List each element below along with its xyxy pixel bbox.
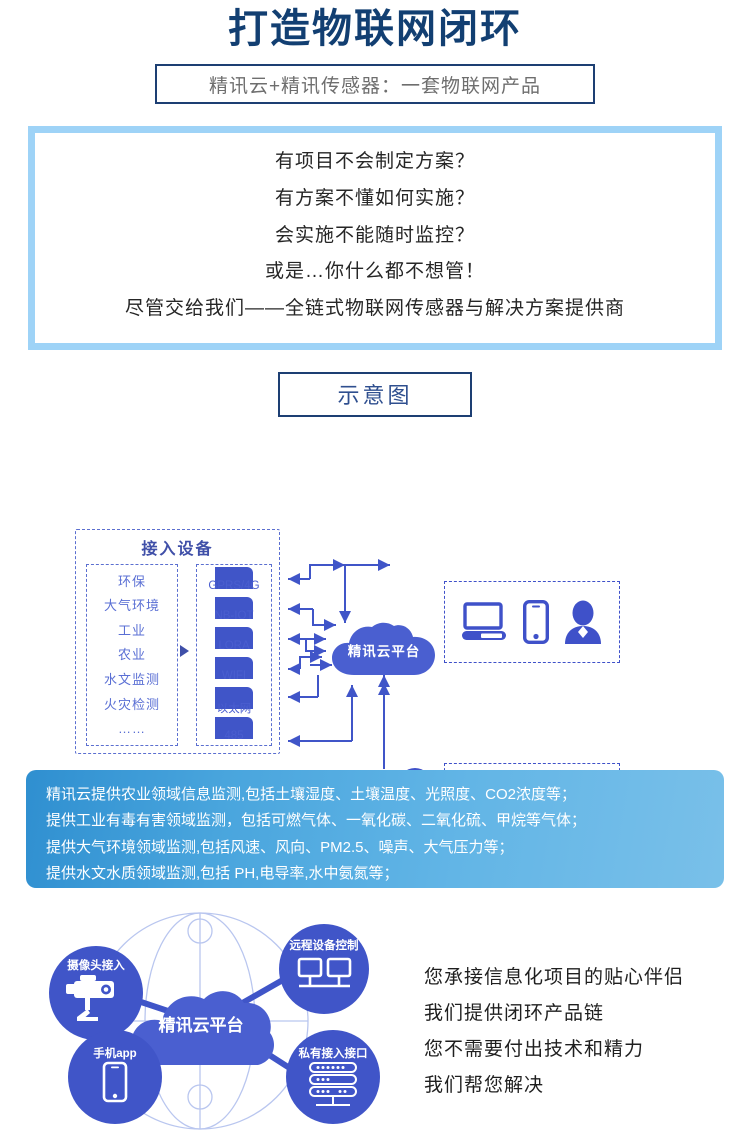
closing-line: 我们提供闭环产品链 bbox=[424, 998, 684, 1025]
subtitle-text: 精讯云+精讯传感器：一套物联网产品 bbox=[209, 71, 541, 98]
domain-item: 工业 bbox=[118, 624, 146, 637]
question-line: 有项目不会制定方案？ bbox=[45, 151, 705, 174]
hub-section: 精讯云平台 摄像头接入 远程设备控制 手机app bbox=[0, 900, 750, 1141]
protocol-label: GPRS/4G bbox=[197, 580, 271, 592]
client-devices-box bbox=[444, 581, 620, 663]
question-line: 尽管交给我们——全链式物联网传感器与解决方案提供商 bbox=[45, 298, 705, 321]
domain-item: 大气环境 bbox=[104, 599, 160, 612]
question-line: 有方案不懂如何实施？ bbox=[45, 188, 705, 211]
domain-item: 农业 bbox=[118, 648, 146, 661]
user-icon bbox=[563, 600, 603, 644]
question-line: 会实施不能随时监控？ bbox=[45, 225, 705, 248]
access-devices-title: 接入设备 bbox=[75, 535, 280, 559]
protocol-label: 以太网 bbox=[197, 700, 271, 716]
domain-item: 环保 bbox=[118, 575, 146, 588]
protocol-item: WIFI bbox=[197, 657, 271, 687]
closing-line: 您承接信息化项目的贴心伴侣 bbox=[424, 962, 684, 989]
hub-node-label-app: 手机app bbox=[93, 1046, 136, 1060]
question-box: 有项目不会制定方案？ 有方案不懂如何实施？ 会实施不能随时监控？ 或是…你什么都… bbox=[28, 126, 722, 350]
right-triangle-arrow-icon bbox=[180, 645, 189, 657]
hub-node-remote bbox=[279, 924, 369, 1014]
domain-item: 水文监测 bbox=[104, 673, 160, 686]
domain-item: …… bbox=[118, 722, 146, 735]
protocol-label: NB-IOT bbox=[197, 610, 271, 622]
hub-node-label-camera: 摄像头接入 bbox=[67, 958, 125, 972]
hub-diagram: 精讯云平台 摄像头接入 远程设备控制 手机app bbox=[20, 905, 420, 1137]
protocol-item: 以太网 bbox=[197, 687, 271, 717]
hub-center-label: 精讯云平台 bbox=[159, 1015, 244, 1035]
protocol-list: GPRS/4G NB-IOT LORA WIFI 以太网 485 bbox=[196, 564, 272, 746]
feature-line: 精讯云提供农业领域信息监测,包括土壤湿度、土壤温度、光照度、CO2浓度等； bbox=[46, 784, 704, 805]
cloud-platform-node: 精讯云平台 bbox=[330, 621, 438, 677]
schematic-diagram: 接入设备 环保 大气环境 工业 农业 水文监测 火灾检测 …… GPRS/4G … bbox=[0, 439, 750, 769]
hub-node-label-remote: 远程设备控制 bbox=[290, 938, 359, 952]
protocol-item: LORA bbox=[197, 627, 271, 657]
cloud-platform-label: 精讯云平台 bbox=[330, 640, 438, 660]
page-title: 打造物联网闭环 bbox=[0, 0, 750, 52]
hub-node-private-api bbox=[286, 1030, 380, 1124]
feature-line: 提供大气环境领域监测,包括风速、风向、PM2.5、噪声、大气压力等； bbox=[46, 837, 704, 858]
schematic-label-box: 示意图 bbox=[278, 372, 472, 417]
feature-line: 提供水文水质领域监测,包括 PH,电导率,水中氨氮等； bbox=[46, 863, 704, 884]
question-line: 或是…你什么都不想管！ bbox=[45, 261, 705, 284]
protocol-item: 485 bbox=[197, 717, 271, 747]
feature-summary-box: 精讯云提供农业领域信息监测,包括土壤湿度、土壤温度、光照度、CO2浓度等； 提供… bbox=[26, 770, 724, 888]
smartphone-icon bbox=[523, 600, 549, 644]
schematic-label-text: 示意图 bbox=[337, 378, 412, 410]
protocol-label: 485 bbox=[197, 730, 271, 742]
protocol-item: GPRS/4G bbox=[197, 567, 271, 597]
domain-list: 环保 大气环境 工业 农业 水文监测 火灾检测 …… bbox=[86, 564, 178, 746]
protocol-item: NB-IOT bbox=[197, 597, 271, 627]
closing-statements: 您承接信息化项目的贴心伴侣 我们提供闭环产品链 您不需要付出技术和精力 我们帮您… bbox=[424, 962, 684, 1106]
domain-item: 火灾检测 bbox=[104, 698, 160, 711]
laptop-icon bbox=[461, 602, 509, 642]
hub-node-app bbox=[68, 1030, 162, 1124]
hub-node-label-private-api: 私有接入接口 bbox=[299, 1046, 368, 1060]
closing-line: 您不需要付出技术和精力 bbox=[424, 1034, 684, 1061]
protocol-label: LORA bbox=[197, 640, 271, 652]
feature-line: 提供工业有毒有害领域监测，包括可燃气体、一氧化碳、二氧化硫、甲烷等气体； bbox=[46, 810, 704, 831]
protocol-label: WIFI bbox=[197, 670, 271, 682]
subtitle-box: 精讯云+精讯传感器：一套物联网产品 bbox=[155, 64, 595, 104]
closing-line: 我们帮您解决 bbox=[424, 1070, 684, 1097]
